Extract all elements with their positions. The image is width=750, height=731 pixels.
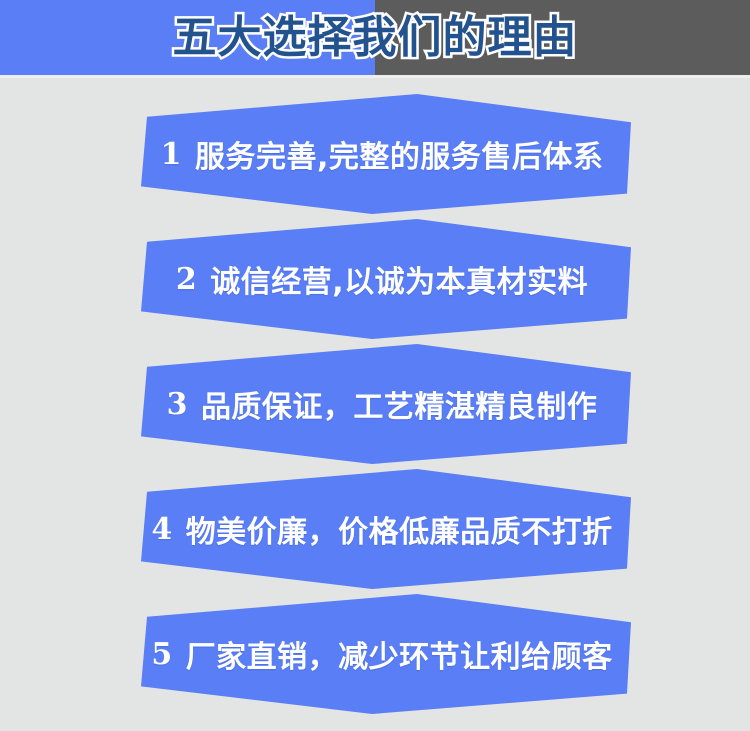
reason-text-row-2: 2 诚信经营,以诚为本真材实料 (132, 219, 632, 339)
reason-number-4: 4 (151, 512, 172, 547)
reason-item-2[interactable]: 2 诚信经营,以诚为本真材实料 (0, 219, 750, 344)
reason-item-4[interactable]: 4 物美价廉，价格低廉品质不打折 (0, 469, 750, 594)
reason-number-5: 5 (151, 637, 172, 672)
reason-number-2: 2 (176, 262, 197, 297)
page-title: 五大选择我们的理由 (0, 0, 750, 75)
reason-text-row-3: 3 品质保证，工艺精湛精良制作 (132, 344, 632, 464)
reason-item-5[interactable]: 5 厂家直销，减少环节让利给顾客 (0, 594, 750, 719)
reason-label-1: 服务完善,完整的服务售后体系 (195, 132, 603, 176)
reason-label-3: 品质保证，工艺精湛精良制作 (201, 382, 598, 426)
reason-label-5: 厂家直销，减少环节让利给顾客 (186, 632, 613, 676)
reason-label-4: 物美价廉，价格低廉品质不打折 (186, 507, 613, 551)
reason-text-row-4: 4 物美价廉，价格低廉品质不打折 (132, 469, 632, 589)
reason-item-1[interactable]: 1 服务完善,完整的服务售后体系 (0, 94, 750, 219)
reason-text-row-5: 5 厂家直销，减少环节让利给顾客 (132, 594, 632, 714)
reason-number-3: 3 (167, 387, 188, 422)
reason-item-3[interactable]: 3 品质保证，工艺精湛精良制作 (0, 344, 750, 469)
promo-banner-page: 五大选择我们的理由 1 服务完善,完整的服务售后体系 2 诚信经营,以诚为本真材… (0, 0, 750, 731)
reason-number-1: 1 (161, 137, 182, 172)
reason-label-2: 诚信经营,以诚为本真材实料 (210, 257, 588, 301)
reasons-list: 1 服务完善,完整的服务售后体系 2 诚信经营,以诚为本真材实料 3 品质保证，… (0, 78, 750, 731)
page-header: 五大选择我们的理由 (0, 0, 750, 75)
reason-text-row-1: 1 服务完善,完整的服务售后体系 (132, 94, 632, 214)
